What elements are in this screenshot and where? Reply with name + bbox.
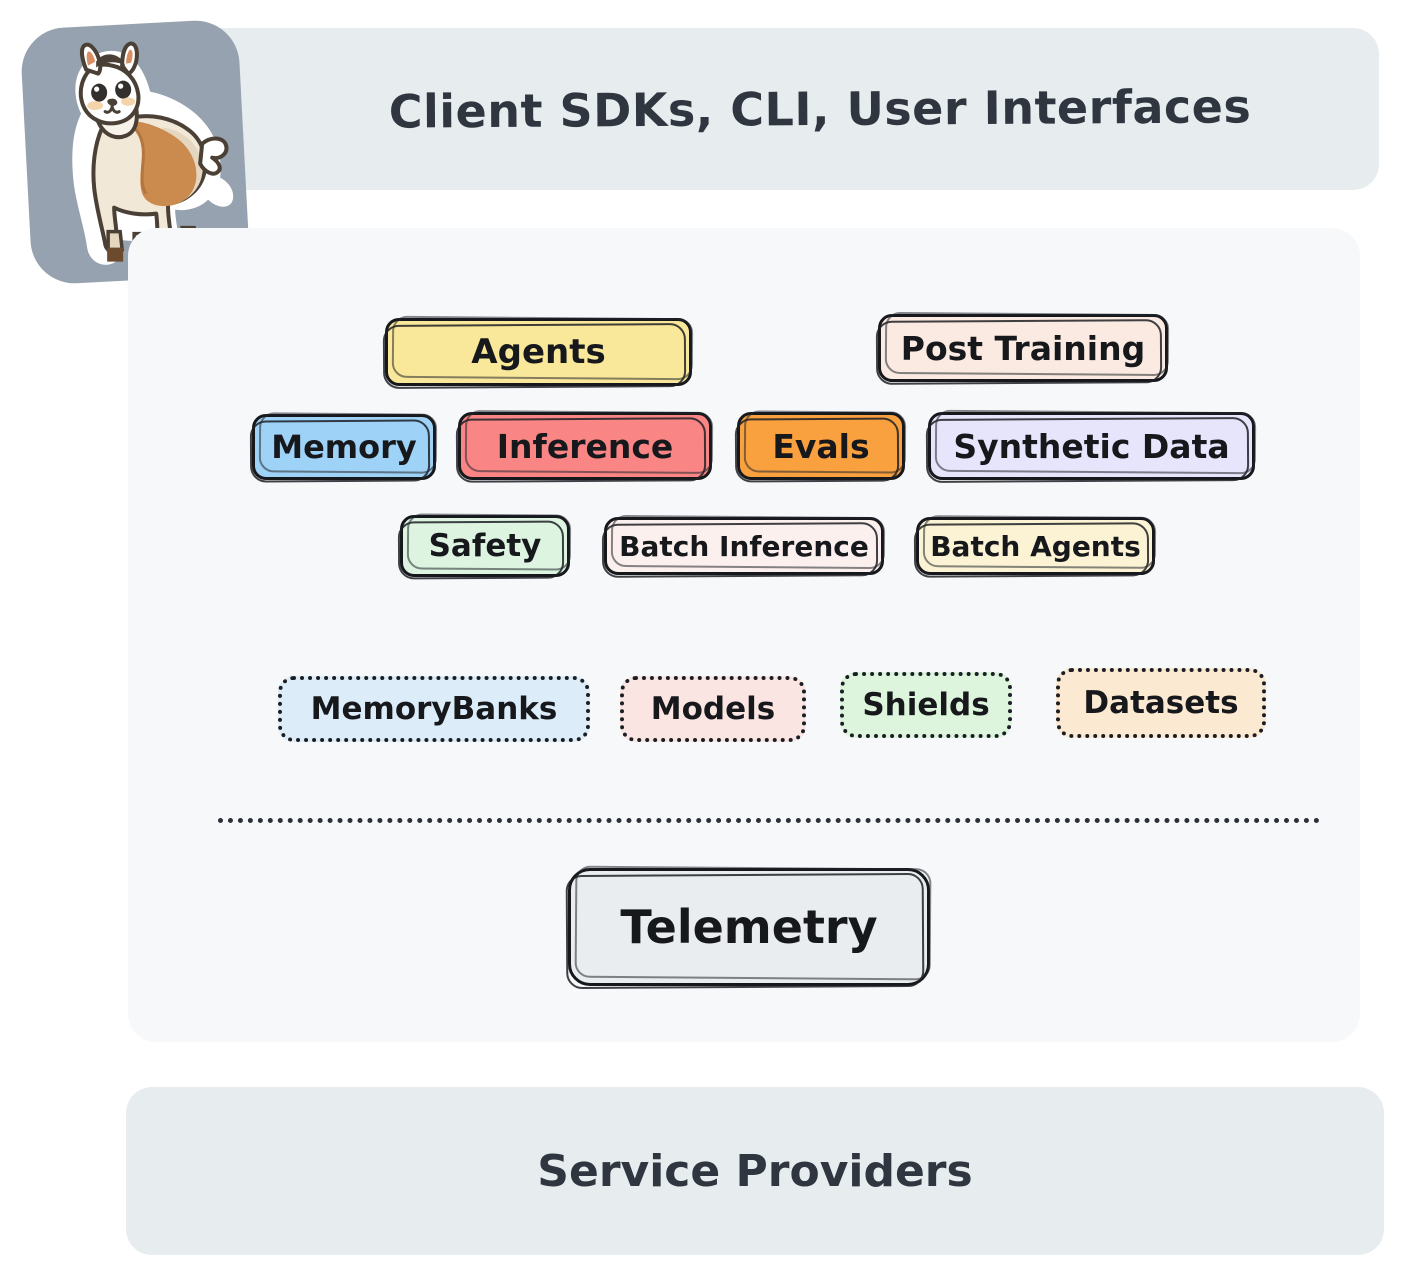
section-divider [218,818,1320,823]
api-box-label: Batch Agents [930,530,1141,563]
resource-box-memorybanks[interactable]: MemoryBanks [278,676,590,742]
resource-box-label: Datasets [1083,685,1238,721]
api-box-label: Memory [271,428,417,466]
api-box-label: Synthetic Data [953,427,1229,466]
api-box-synthetic-data[interactable]: Synthetic Data [928,412,1255,480]
telemetry-label: Telemetry [620,900,877,954]
api-box-label: Inference [497,427,674,466]
api-box-inference[interactable]: Inference [458,412,712,480]
api-box-label: Agents [471,332,605,372]
resource-box-datasets[interactable]: Datasets [1056,668,1266,738]
api-box-label: Post Training [901,329,1145,368]
api-box-memory[interactable]: Memory [252,414,436,480]
api-box-safety[interactable]: Safety [400,515,570,577]
api-box-agents[interactable]: Agents [385,318,692,386]
api-box-label: Batch Inference [619,530,869,563]
resource-box-models[interactable]: Models [620,676,806,742]
api-box-label: Safety [429,528,542,564]
api-box-batch-agents[interactable]: Batch Agents [916,517,1155,575]
api-box-batch-inference[interactable]: Batch Inference [604,517,884,575]
resource-box-label: Shields [862,687,989,723]
service-providers-title: Service Providers [126,1087,1384,1255]
resource-box-shields[interactable]: Shields [840,672,1012,738]
resource-box-label: MemoryBanks [311,691,558,727]
api-box-post-training[interactable]: Post Training [878,314,1168,382]
api-box-label: Evals [772,427,869,466]
resource-box-label: Models [651,691,775,727]
client-layer-title: Client SDKs, CLI, User Interfaces [260,25,1381,194]
telemetry-box[interactable]: Telemetry [568,868,930,986]
api-box-evals[interactable]: Evals [737,412,905,480]
